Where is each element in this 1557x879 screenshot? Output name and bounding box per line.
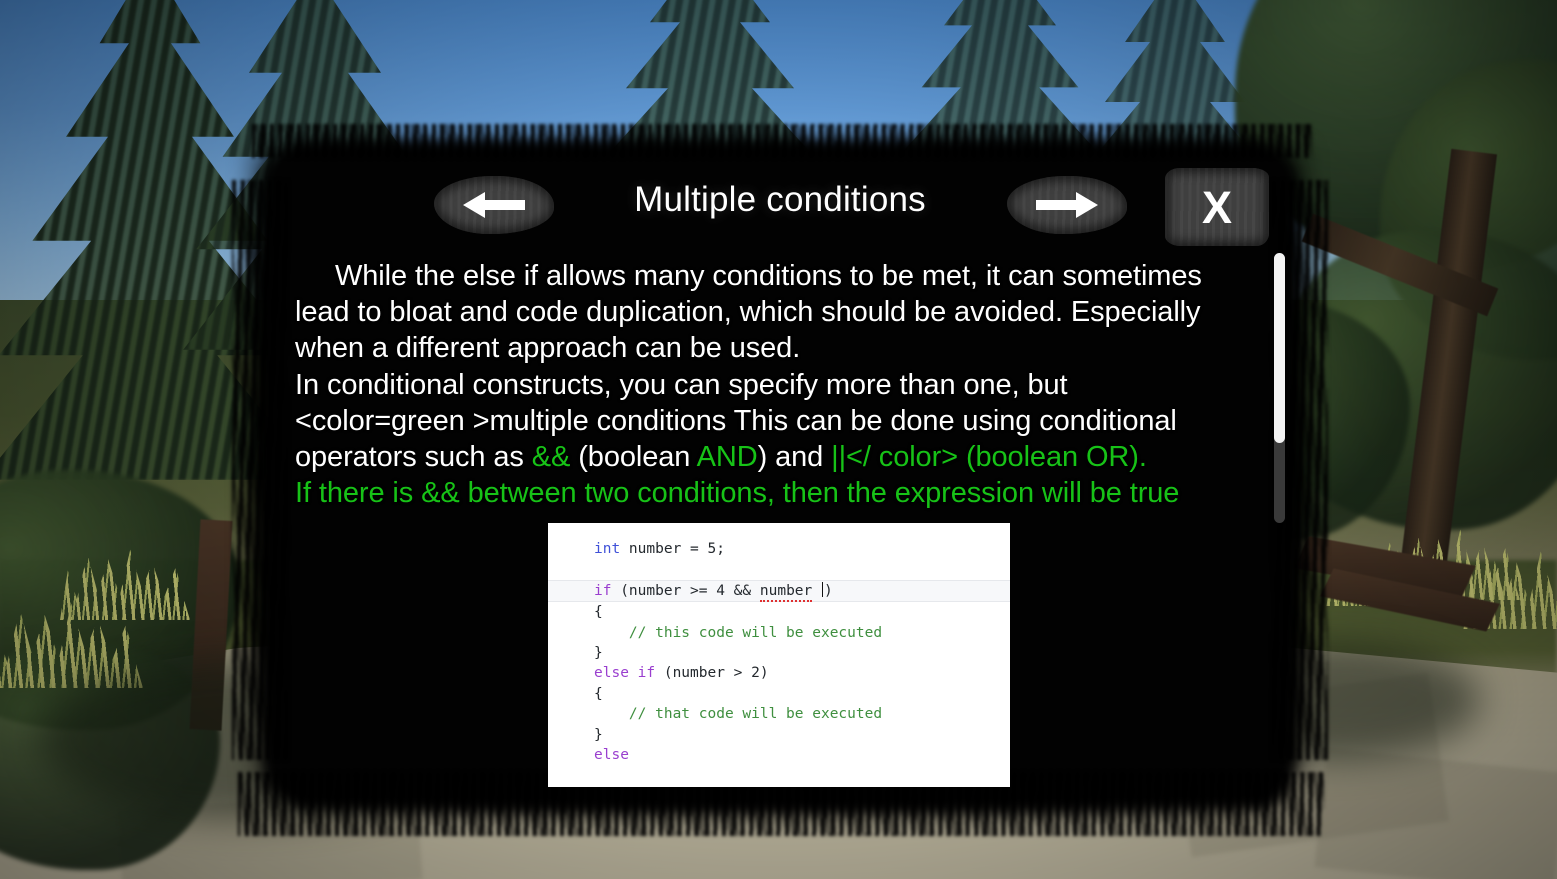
- paragraph-1: While the else if allows many conditions…: [295, 258, 1235, 367]
- page-title: Multiple conditions: [262, 180, 1298, 220]
- paragraph-2: In conditional constructs, you can speci…: [295, 367, 1235, 476]
- paragraph-3: If there is && between two conditions, t…: [295, 475, 1235, 511]
- close-icon: X: [1202, 185, 1232, 230]
- code-token: {: [594, 604, 603, 620]
- close-button[interactable]: X: [1165, 168, 1269, 246]
- word-and: AND: [697, 441, 758, 473]
- code-token: // that code will be executed: [594, 706, 882, 722]
- arrow-right-icon: [1034, 189, 1100, 221]
- code-token: }: [594, 645, 603, 661]
- panel-content: Multiple conditions X While the else if …: [262, 140, 1298, 810]
- line-1: int number = 5;: [594, 539, 1010, 559]
- line-comment-1: // this code will be executed: [594, 623, 1010, 643]
- line-else: else: [594, 745, 1010, 765]
- code-token: else: [594, 747, 629, 763]
- code-token: if: [594, 583, 611, 599]
- text-scrollbar-thumb[interactable]: [1274, 253, 1285, 443]
- code-token: else if: [594, 665, 655, 681]
- lesson-body-text: While the else if allows many conditions…: [295, 258, 1235, 511]
- line-comment-2: // that code will be executed: [594, 704, 1010, 724]
- line-brace-close-2: }: [594, 725, 1010, 745]
- paragraph-2-plain-b: (boolean: [570, 441, 696, 473]
- code-token: int: [594, 541, 620, 557]
- code-token: // this code will be executed: [594, 625, 882, 641]
- line-brace-open-2: {: [594, 684, 1010, 704]
- operator-or-token: ||</ color> (boolean OR).: [831, 441, 1147, 473]
- text-cursor: [822, 582, 823, 597]
- code-example-block: int number = 5;if (number >= 4 && number…: [548, 523, 1010, 787]
- code-token: (number >= 4 &&: [611, 583, 759, 599]
- line-blank-1: [594, 559, 1010, 579]
- code-token: {: [594, 686, 603, 702]
- code-token: }: [594, 727, 603, 743]
- code-token: ): [824, 583, 833, 599]
- line-brace-close-1: }: [594, 643, 1010, 663]
- next-page-button[interactable]: [1007, 176, 1127, 234]
- code-lines-container: int number = 5;if (number >= 4 && number…: [548, 523, 1010, 765]
- panel-header: Multiple conditions X: [262, 162, 1298, 248]
- lesson-overlay-panel: Multiple conditions X While the else if …: [262, 140, 1298, 810]
- line-brace-open-1: {: [594, 602, 1010, 622]
- paragraph-1-text: While the else if allows many conditions…: [295, 260, 1202, 364]
- code-token: number: [760, 583, 812, 602]
- line-else-if: else if (number > 2): [594, 663, 1010, 683]
- operator-and-token: &&: [532, 441, 571, 473]
- text-scrollbar-track[interactable]: [1274, 253, 1285, 523]
- line-if: if (number >= 4 && number ): [548, 580, 1010, 602]
- code-token: number = 5;: [620, 541, 725, 557]
- code-token: [812, 583, 821, 599]
- paragraph-2-plain-c: ) and: [758, 441, 832, 473]
- code-token: (number > 2): [655, 665, 769, 681]
